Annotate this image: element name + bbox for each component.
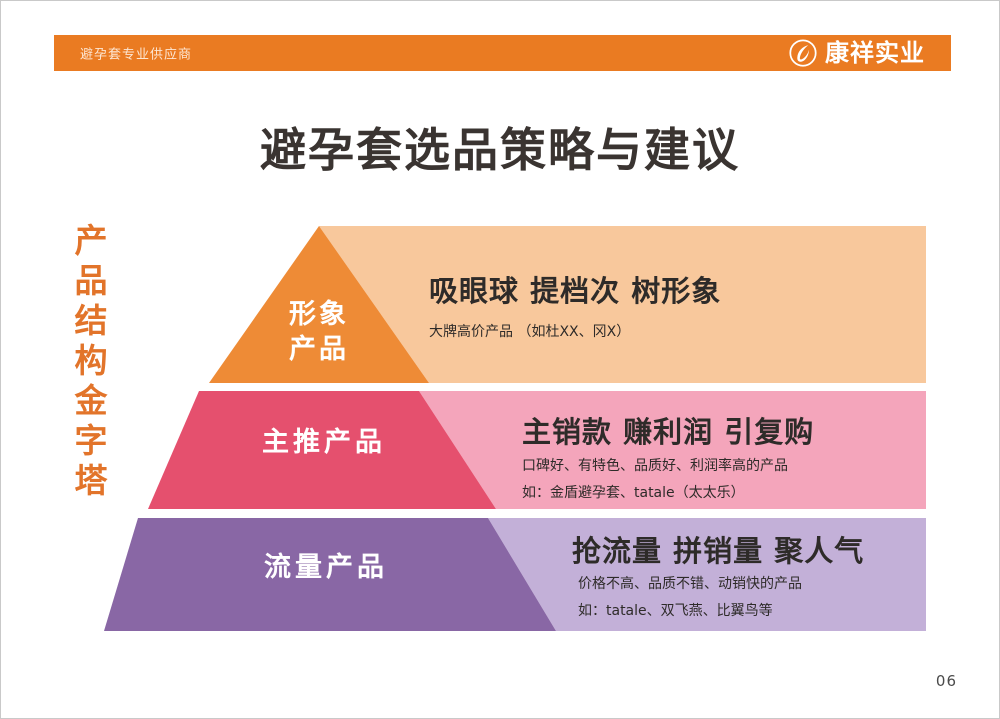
- tier-2-label: 主推产品: [239, 425, 409, 460]
- tier-1-label: 形象 产品: [269, 297, 369, 367]
- tier-3-headline: 抢流量 拼销量 聚人气: [572, 533, 864, 569]
- tier-2-subtext: 口碑好、有特色、品质好、利润率高的产品 如：金盾避孕套、tatale（太太乐）: [522, 453, 788, 506]
- tier-1-subtext: 大牌高价产品 （如杜XX、冈X）: [429, 319, 630, 346]
- slide-canvas: 避孕套专业供应商 康祥实业 避孕套选品策略与建议 产品结构金字塔 形: [0, 0, 1000, 719]
- tier-3-label: 流量产品: [241, 550, 411, 585]
- tier-1-subtext-line-1: 大牌高价产品 （如杜XX、冈X）: [429, 319, 630, 346]
- tier-3-subtext-line-2: 如：tatale、双飞燕、比翼鸟等: [578, 598, 802, 625]
- page-number: 06: [936, 672, 957, 690]
- tier-2-subtext-line-1: 口碑好、有特色、品质好、利润率高的产品: [522, 453, 788, 480]
- tier-3-subtext-line-1: 价格不高、品质不错、动销快的产品: [578, 571, 802, 598]
- pyramid-diagram: [1, 1, 1000, 719]
- tier-2-subtext-line-2: 如：金盾避孕套、tatale（太太乐）: [522, 480, 788, 507]
- tier-3-subtext: 价格不高、品质不错、动销快的产品 如：tatale、双飞燕、比翼鸟等: [578, 571, 802, 624]
- tier-1-label-line-2: 产品: [269, 332, 369, 367]
- tier-1-label-line-1: 形象: [269, 297, 369, 332]
- tier-2-headline: 主销款 赚利润 引复购: [522, 414, 814, 450]
- tier-1-headline: 吸眼球 提档次 树形象: [429, 273, 721, 309]
